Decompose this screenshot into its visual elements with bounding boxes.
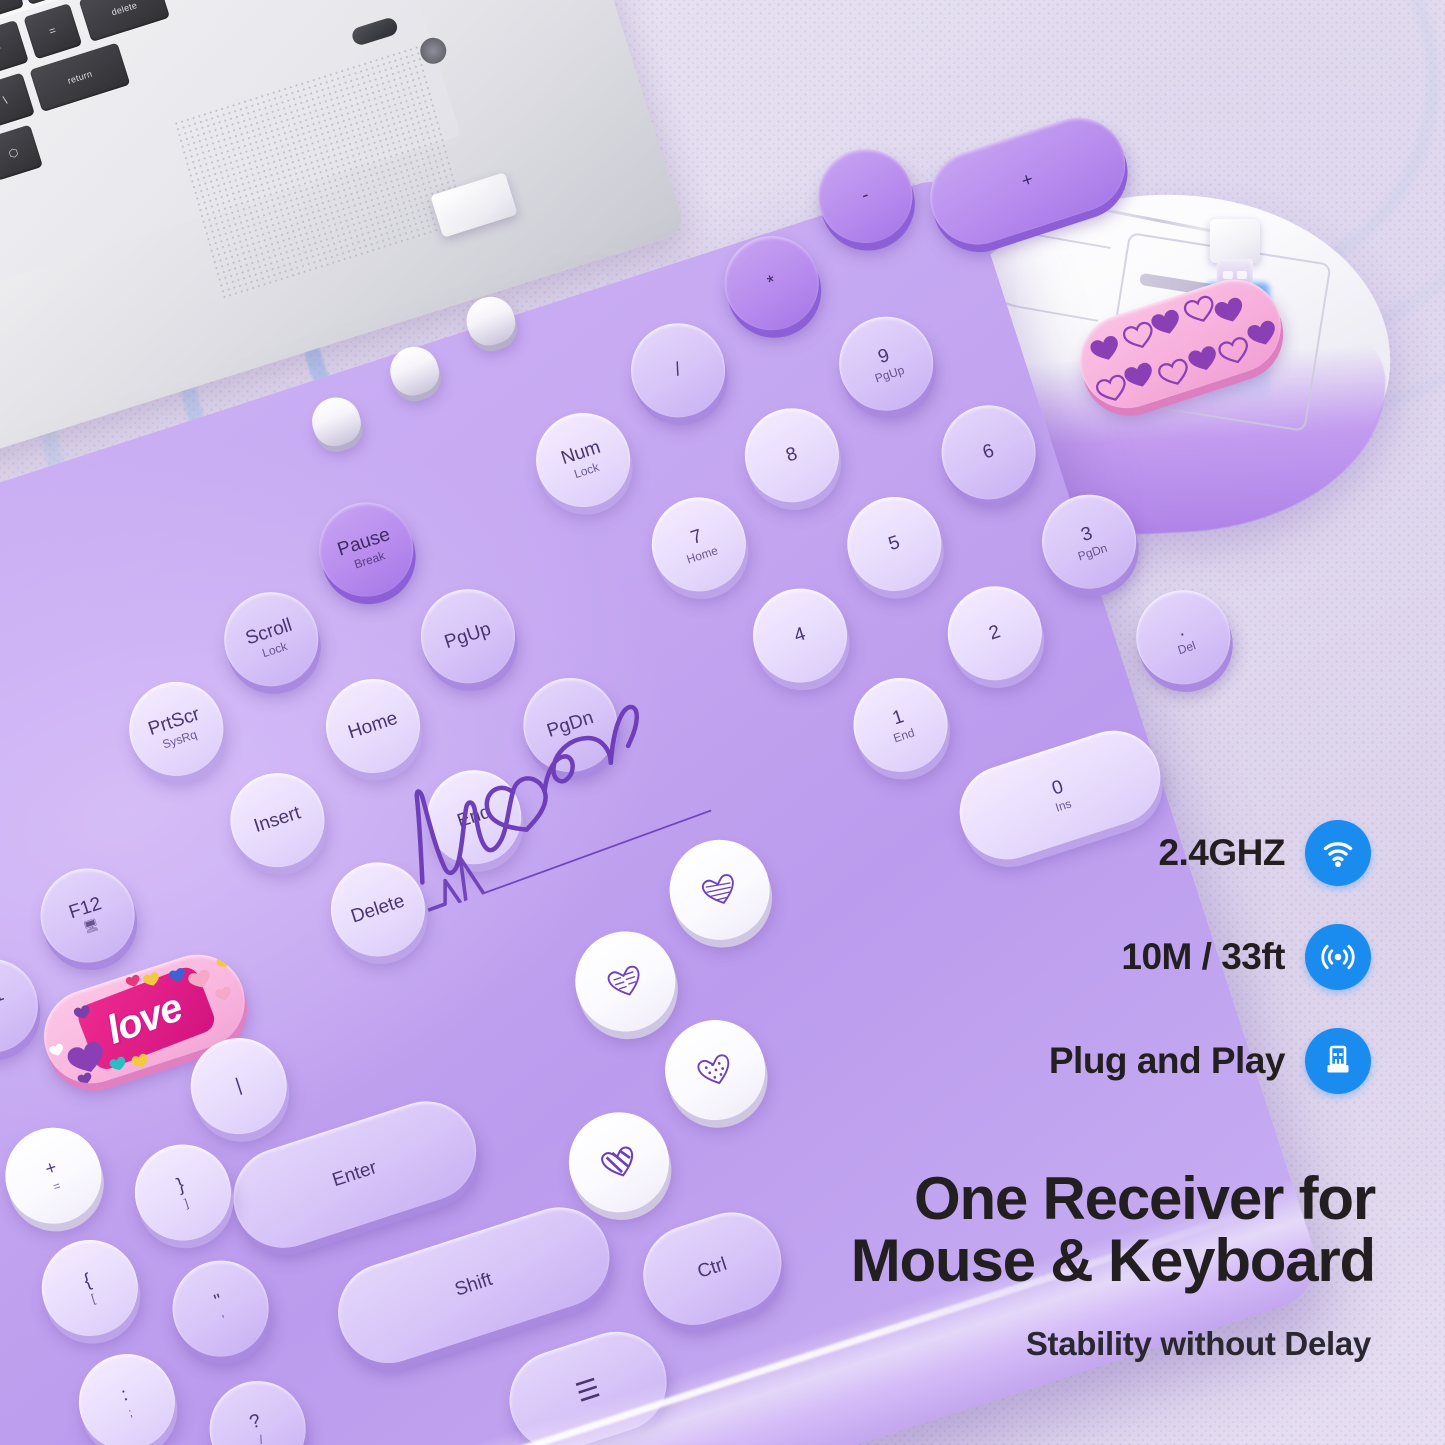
headline-line-1: One Receiver for xyxy=(675,1168,1375,1230)
key-label: 4 xyxy=(792,625,808,647)
laptop-key: delete xyxy=(79,0,170,42)
key-label: * xyxy=(765,273,778,294)
key-sublabel: Home xyxy=(685,544,719,566)
key-label: + xyxy=(43,1158,60,1180)
feature-list: 2.4GHZ 10M / 33ft xyxy=(1041,820,1371,1132)
usb-dongle-cap xyxy=(1210,219,1260,263)
key-sublabel: = xyxy=(51,1179,62,1193)
headline-line-2: Mouse & Keyboard xyxy=(675,1230,1375,1292)
laptop-key: ⬡ xyxy=(0,125,43,181)
key-label: 6 xyxy=(980,441,996,463)
key-label: 8 xyxy=(784,444,800,466)
subheadline: Stability without Delay xyxy=(671,1325,1371,1363)
feature-item: 10M / 33ft xyxy=(1041,924,1371,990)
key-sublabel: PgUp xyxy=(873,363,905,384)
headline: One Receiver for Mouse & Keyboard xyxy=(675,1168,1375,1293)
heart-scribble-icon xyxy=(699,869,741,910)
heart-lined-icon xyxy=(604,961,646,1002)
feature-label: 2.4GHZ xyxy=(1158,832,1285,874)
key-label: 0 xyxy=(1050,777,1066,799)
key-label: " xyxy=(212,1291,225,1312)
key-label: ? xyxy=(247,1411,263,1433)
feature-label: Plug and Play xyxy=(1049,1040,1285,1082)
key-label: Insert xyxy=(252,803,303,837)
key-label: PgUp xyxy=(442,619,493,653)
key-sublabel: / xyxy=(258,1433,265,1445)
key-label: { xyxy=(81,1271,93,1292)
key-label: Enter xyxy=(330,1158,379,1191)
key-label: Delete xyxy=(349,891,407,927)
laptop-key: \ xyxy=(0,73,35,129)
feature-item: Plug and Play xyxy=(1041,1028,1371,1094)
key-label: 5 xyxy=(886,533,902,555)
key-label: / xyxy=(672,360,683,381)
key-sublabel: ] xyxy=(183,1197,190,1210)
laptop-key: = xyxy=(23,3,82,59)
key-label: - xyxy=(859,185,871,206)
key-label: + xyxy=(1019,170,1036,192)
laptop-key: - xyxy=(0,20,29,76)
key-label: 7 xyxy=(688,526,704,548)
key-sublabel: Ins xyxy=(1054,797,1073,814)
key-label: 2 xyxy=(987,622,1003,644)
key-sublabel: Del xyxy=(1176,639,1197,657)
key-label: Home xyxy=(346,709,400,744)
key-sublabel: [ xyxy=(90,1292,97,1305)
key-label: : xyxy=(119,1385,130,1406)
heart-dotted-icon xyxy=(694,1050,736,1091)
wifi-icon xyxy=(1305,820,1371,886)
key-sublabel: ; xyxy=(127,1406,134,1419)
heart-striped-icon xyxy=(598,1142,640,1183)
key-label: 1 xyxy=(890,707,906,729)
key-label: | xyxy=(233,1076,244,1096)
key-label: Shift xyxy=(453,1270,495,1301)
key-label: . xyxy=(1175,620,1186,641)
feature-item: 2.4GHZ xyxy=(1041,820,1371,886)
f12-secondary-icon: 🖥 xyxy=(82,918,100,935)
key-label: 3 xyxy=(1079,524,1095,546)
key-sublabel: ' xyxy=(221,1313,227,1326)
key-label: } xyxy=(175,1175,187,1196)
product-marketing-image: O P F10 F11 F12 - = delete [ ] \ return … xyxy=(0,0,1445,1445)
key-label: 9 xyxy=(876,346,892,368)
usb-dongle-icon xyxy=(1305,1028,1371,1094)
key-label: F11 xyxy=(0,985,7,1014)
key-label: F12 xyxy=(67,894,104,923)
signal-broadcast-icon xyxy=(1305,924,1371,990)
key-sublabel: PgDn xyxy=(1076,541,1108,562)
feature-label: 10M / 33ft xyxy=(1121,936,1285,978)
